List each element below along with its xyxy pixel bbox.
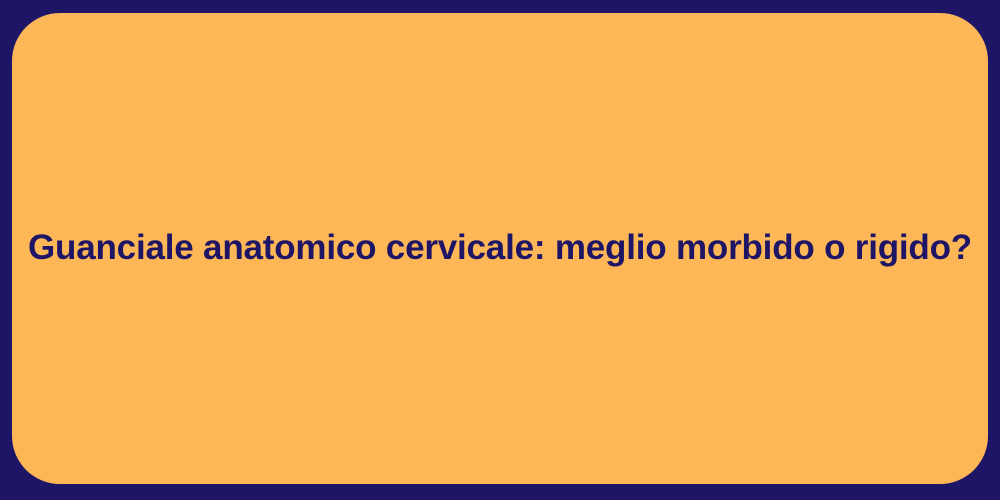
page-title: Guanciale anatomico cervicale: meglio mo… bbox=[0, 226, 1000, 270]
title-card: Guanciale anatomico cervicale: meglio mo… bbox=[0, 0, 1000, 500]
title-card-panel: Guanciale anatomico cervicale: meglio mo… bbox=[12, 13, 988, 484]
